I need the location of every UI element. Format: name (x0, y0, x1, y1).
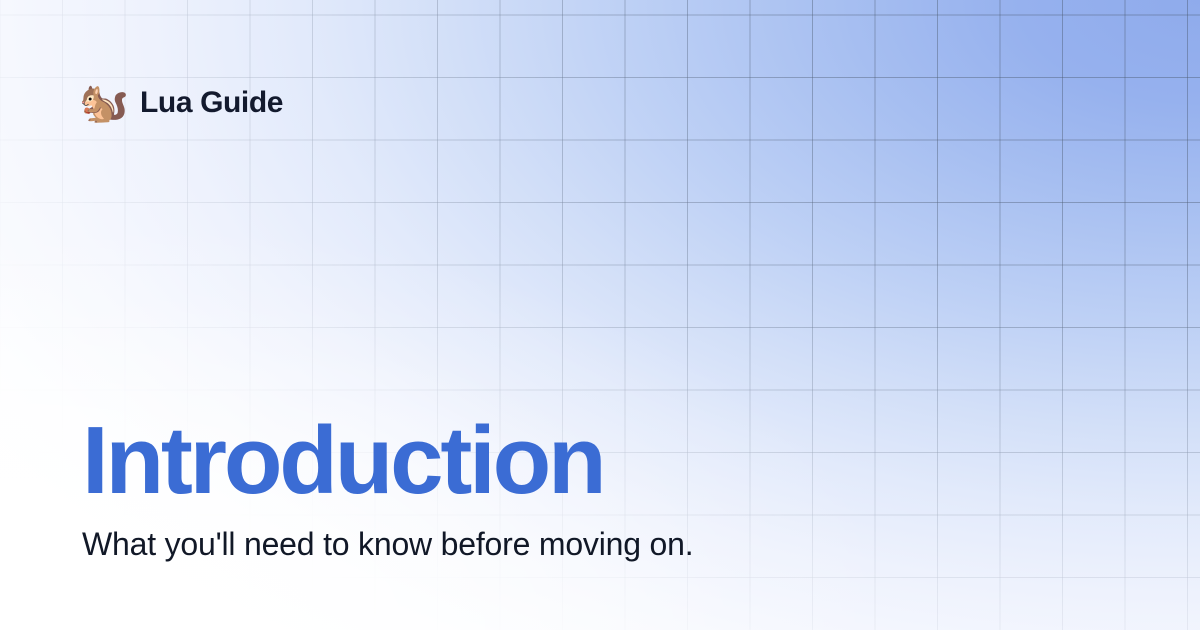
hero-text-block: Introduction What you'll need to know be… (82, 413, 693, 564)
page-subtitle: What you'll need to know before moving o… (82, 525, 693, 564)
page-title: Introduction (82, 413, 693, 509)
og-card: 🐿️ Lua Guide Introduction What you'll ne… (0, 0, 1200, 630)
brand-header: 🐿️ Lua Guide (82, 80, 283, 126)
brand-name: Lua Guide (140, 86, 283, 120)
squirrel-icon: 🐿️ (82, 81, 126, 125)
card-content: 🐿️ Lua Guide Introduction What you'll ne… (0, 0, 1200, 630)
